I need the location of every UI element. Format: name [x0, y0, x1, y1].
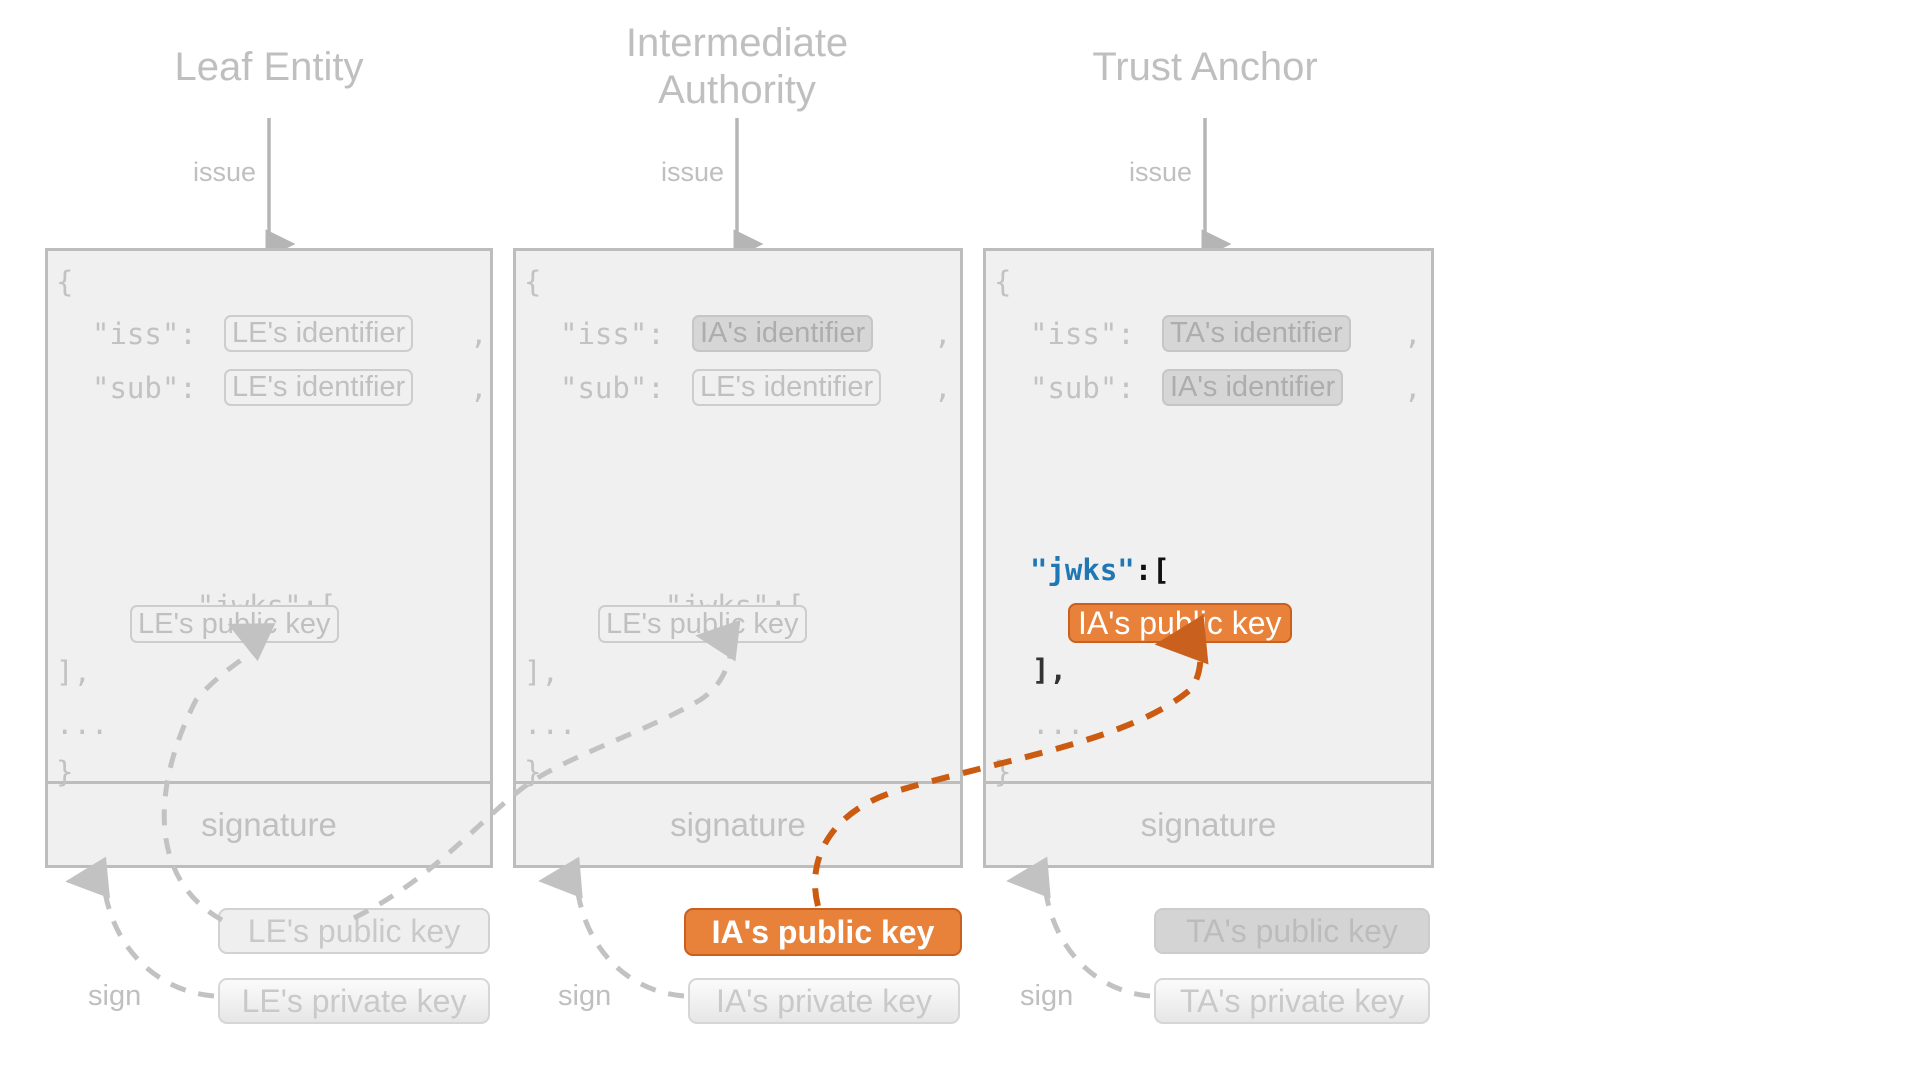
- chip-sub-value-trust-anchor[interactable]: IA's identifier: [1162, 369, 1343, 406]
- jwks-key-text: "jwks": [1030, 553, 1135, 587]
- issue-label-intermediate-authority: issue: [577, 157, 724, 188]
- code-open-brace-leaf-entity: {: [56, 265, 73, 299]
- code-iss-comma-trust-anchor: ,: [1404, 317, 1421, 351]
- code-jwks-close-intermediate-authority: ],: [524, 655, 559, 689]
- code-iss-key-leaf-entity: "iss":: [92, 317, 197, 351]
- code-open-brace-trust-anchor: {: [994, 265, 1011, 299]
- key-pill-private-leaf-entity[interactable]: LE's private key: [218, 978, 490, 1024]
- key-pill-private-trust-anchor[interactable]: TA's private key: [1154, 978, 1430, 1024]
- code-close-brace-leaf-entity: }: [56, 755, 73, 789]
- code-iss-key-trust-anchor: "iss":: [1030, 317, 1135, 351]
- column-title-trust-anchor: Trust Anchor: [1045, 44, 1365, 91]
- chip-jwks-value-intermediate-authority[interactable]: LE's public key: [598, 605, 807, 643]
- chip-iss-value-trust-anchor[interactable]: TA's identifier: [1162, 315, 1351, 352]
- code-sub-key-trust-anchor: "sub":: [1030, 371, 1135, 405]
- signature-divider: [516, 781, 960, 784]
- code-sub-comma-trust-anchor: ,: [1404, 371, 1421, 405]
- code-sub-comma-intermediate-authority: ,: [934, 371, 951, 405]
- code-ellipsis-intermediate-authority: ...: [524, 707, 576, 741]
- sign-label-trust-anchor: sign: [1020, 980, 1073, 1013]
- chip-iss-value-intermediate-authority[interactable]: IA's identifier: [692, 315, 873, 352]
- code-sub-comma-leaf-entity: ,: [470, 371, 487, 405]
- column-title-intermediate-authority: Intermediate Authority: [577, 20, 897, 114]
- chip-jwks-value-trust-anchor[interactable]: IA's public key: [1068, 603, 1292, 643]
- code-iss-comma-leaf-entity: ,: [470, 317, 487, 351]
- code-jwks-close-leaf-entity: ],: [56, 655, 91, 689]
- code-open-brace-intermediate-authority: {: [524, 265, 541, 299]
- code-close-brace-intermediate-authority: }: [524, 755, 541, 789]
- chip-sub-value-leaf-entity[interactable]: LE's identifier: [224, 369, 413, 406]
- issue-label-trust-anchor: issue: [1045, 157, 1192, 188]
- signature-label-trust-anchor: signature: [986, 806, 1431, 844]
- issue-label-leaf-entity: issue: [109, 157, 256, 188]
- code-ellipsis-leaf-entity: ...: [56, 707, 108, 741]
- code-jwks-close-trust-anchor: ],: [1032, 653, 1067, 687]
- signature-label-leaf-entity: signature: [48, 806, 490, 844]
- code-close-brace-trust-anchor: }: [994, 755, 1011, 789]
- key-pill-public-trust-anchor[interactable]: TA's public key: [1154, 908, 1430, 954]
- chip-jwks-value-leaf-entity[interactable]: LE's public key: [130, 605, 339, 643]
- code-ellipsis-trust-anchor: ...: [1032, 707, 1084, 741]
- signature-divider: [986, 781, 1431, 784]
- code-sub-key-intermediate-authority: "sub":: [560, 371, 665, 405]
- chip-iss-value-leaf-entity[interactable]: LE's identifier: [224, 315, 413, 352]
- sign-label-intermediate-authority: sign: [558, 980, 611, 1013]
- signature-divider: [48, 781, 490, 784]
- chip-sub-value-intermediate-authority[interactable]: LE's identifier: [692, 369, 881, 406]
- sign-label-leaf-entity: sign: [88, 980, 141, 1013]
- column-title-leaf-entity: Leaf Entity: [109, 44, 429, 91]
- code-sub-key-leaf-entity: "sub":: [92, 371, 197, 405]
- key-pill-public-intermediate-authority[interactable]: IA's public key: [684, 908, 962, 956]
- jwks-open-text: :[: [1135, 553, 1170, 587]
- diagram-canvas: Leaf Entity Intermediate Authority Trust…: [0, 0, 1920, 1080]
- code-iss-key-intermediate-authority: "iss":: [560, 317, 665, 351]
- signature-label-intermediate-authority: signature: [516, 806, 960, 844]
- key-pill-public-leaf-entity[interactable]: LE's public key: [218, 908, 490, 954]
- code-iss-comma-intermediate-authority: ,: [934, 317, 951, 351]
- key-pill-private-intermediate-authority[interactable]: IA's private key: [688, 978, 960, 1024]
